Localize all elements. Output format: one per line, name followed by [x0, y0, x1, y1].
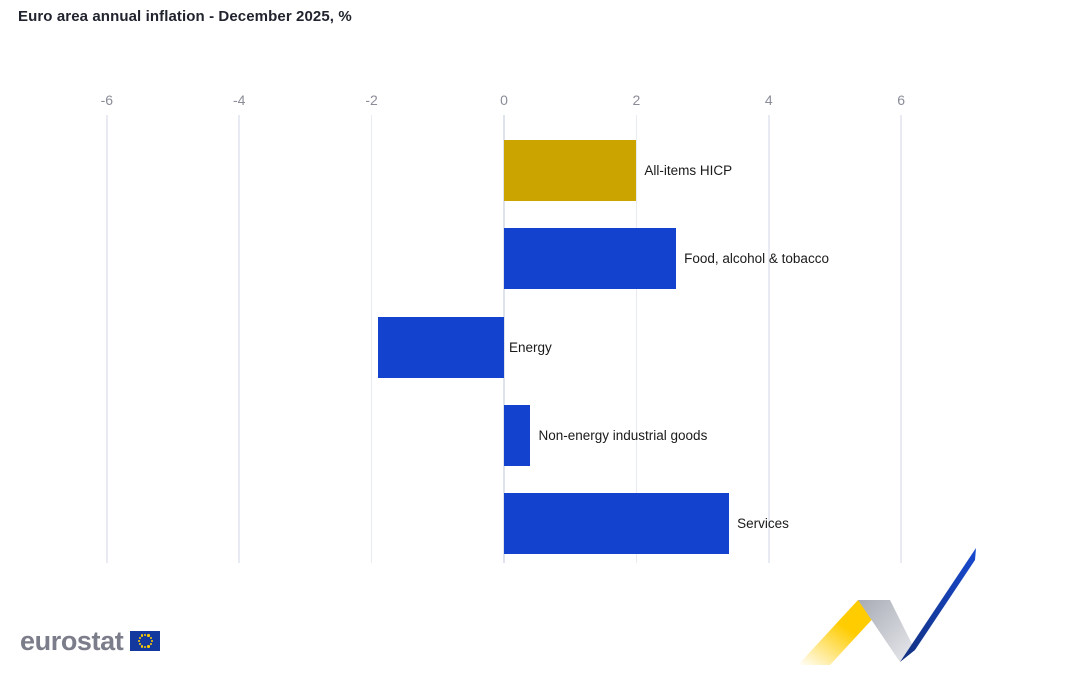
bar[interactable] — [504, 405, 530, 466]
bar[interactable] — [504, 140, 636, 201]
eu-flag-star — [141, 634, 143, 636]
chart-plot-area: -6-4-20246 All-items HICPFood, alcohol &… — [0, 0, 1077, 600]
eu-flag-star — [150, 643, 152, 645]
eu-flag-star — [144, 634, 146, 636]
x-tick-label: -4 — [233, 92, 245, 108]
gridline--6 — [106, 115, 108, 563]
x-tick-label: 0 — [500, 92, 508, 108]
bar[interactable] — [504, 493, 729, 554]
bar[interactable] — [378, 317, 504, 378]
eu-flag-star — [150, 637, 152, 639]
gridline--4 — [238, 115, 240, 563]
eu-flag-star — [139, 637, 141, 639]
eu-flag-star — [147, 645, 149, 647]
bar-label: Energy — [509, 317, 552, 378]
x-tick-label: -6 — [101, 92, 113, 108]
bar-label: All-items HICP — [644, 140, 732, 201]
bar[interactable] — [504, 228, 676, 289]
eu-flag-star — [138, 640, 140, 642]
eu-flag-star — [144, 646, 146, 648]
eu-flag-star — [141, 645, 143, 647]
eurostat-logo: eurostat — [20, 626, 160, 656]
x-tick-label: 4 — [765, 92, 773, 108]
eu-flag-star — [147, 634, 149, 636]
x-tick-label: 6 — [897, 92, 905, 108]
gridline-6 — [900, 115, 902, 563]
bar-label: Food, alcohol & tobacco — [684, 228, 829, 289]
x-tick-label: 2 — [632, 92, 640, 108]
bar-label: Non-energy industrial goods — [538, 405, 707, 466]
eu-flag-icon — [130, 631, 160, 651]
gridline--2 — [371, 115, 373, 563]
bar-label: Services — [737, 493, 789, 554]
eurostat-wordmark: eurostat — [20, 628, 123, 655]
eu-flag-star — [151, 640, 153, 642]
x-tick-label: -2 — [365, 92, 377, 108]
